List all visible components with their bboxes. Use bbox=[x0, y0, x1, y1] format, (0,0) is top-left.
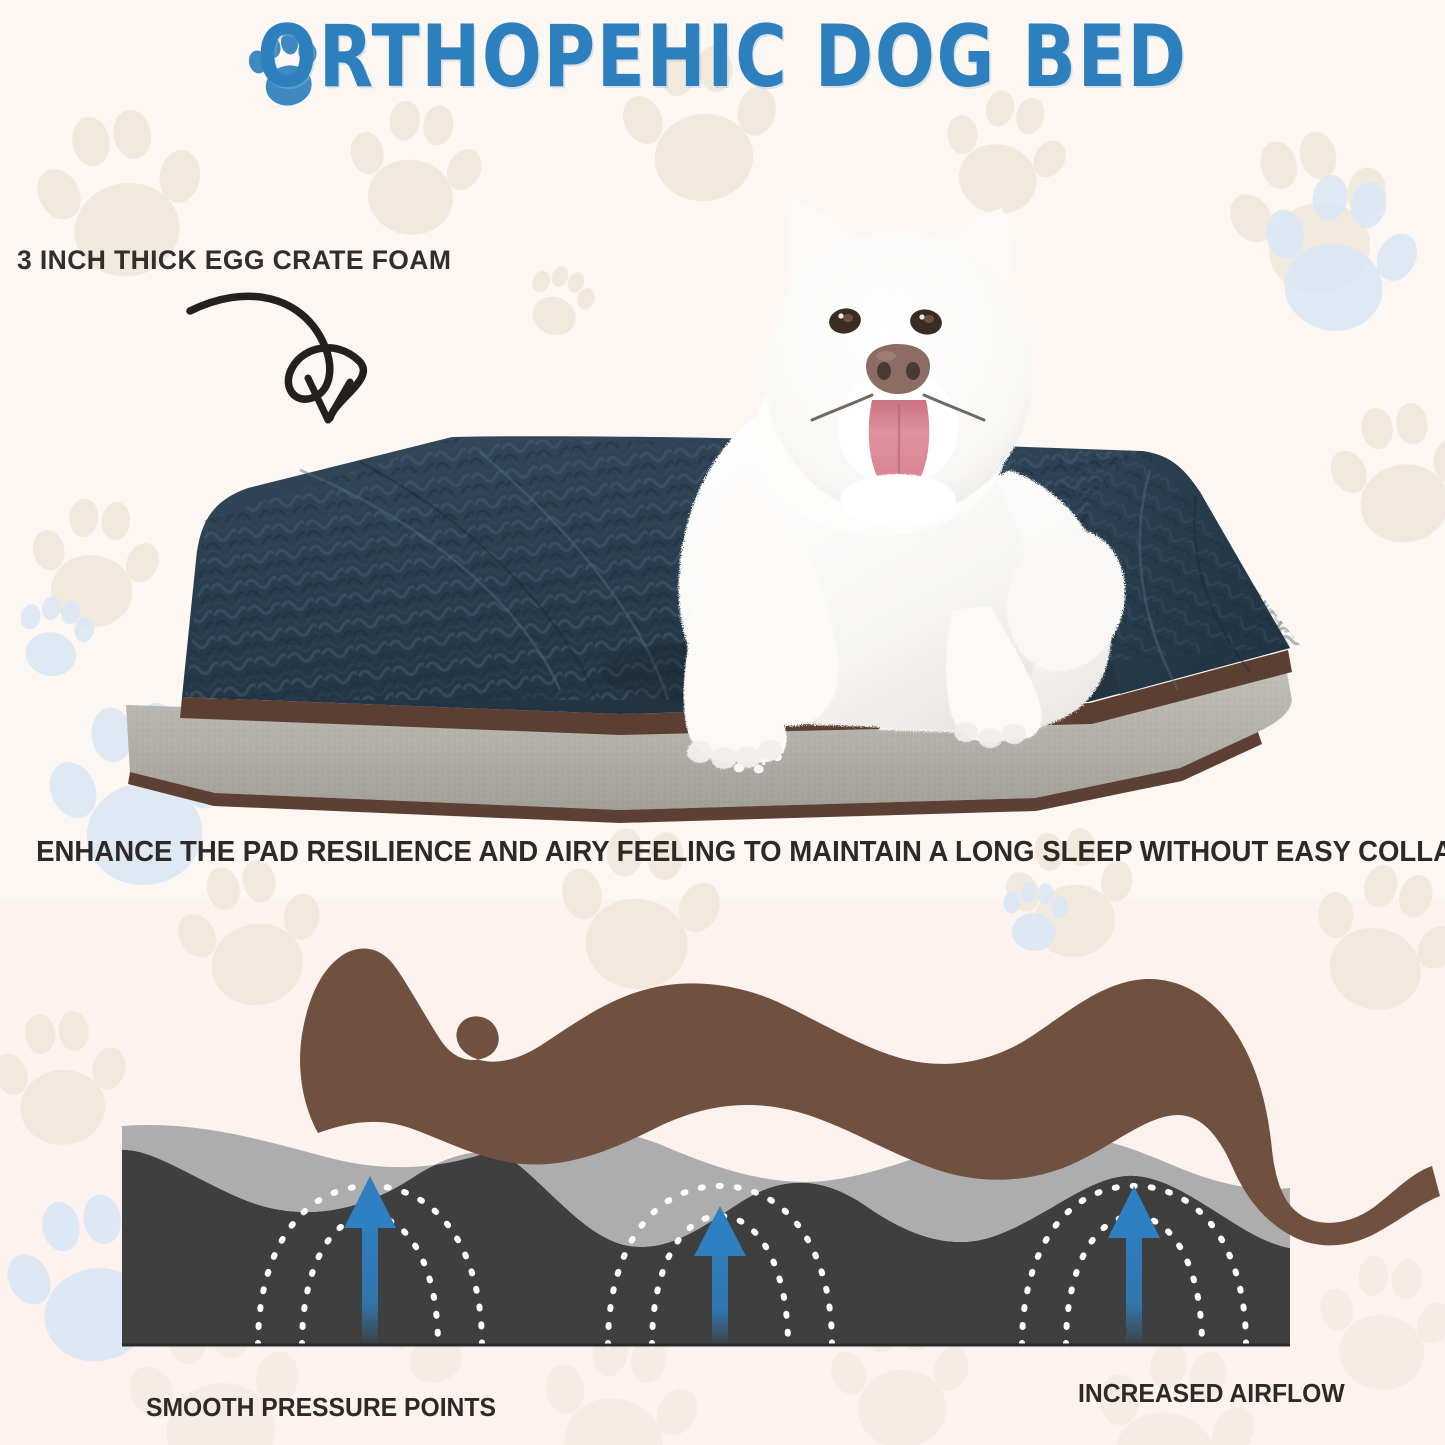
infographic-canvas: ORTHOPEHIC DOG BED 3 INCH THICK EGG CRAT… bbox=[0, 0, 1445, 1445]
foam-cross-section-diagram bbox=[122, 949, 1440, 1346]
label-increased-airflow: INCREASED AIRFLOW bbox=[1078, 1378, 1345, 1409]
label-smooth-pressure-points: SMOOTH PRESSURE POINTS bbox=[146, 1392, 496, 1423]
foam-callout-label: 3 INCH THICK EGG CRATE FOAM bbox=[17, 245, 451, 276]
page-title-container: ORTHOPEHIC DOG BED bbox=[0, 14, 1445, 100]
curved-arrow-icon bbox=[190, 296, 363, 420]
page-title: ORTHOPEHIC DOG BED bbox=[257, 14, 1187, 100]
pad-resilience-caption: ENHANCE THE PAD RESILIENCE AND AIRY FEEL… bbox=[36, 836, 1409, 869]
product-illustration bbox=[0, 0, 1445, 1445]
